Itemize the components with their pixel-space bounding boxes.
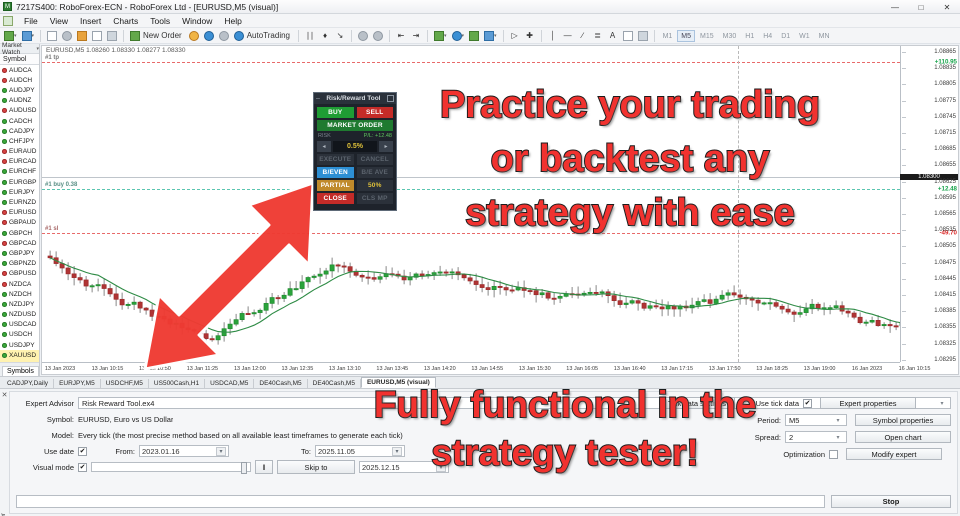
- indicators-icon[interactable]: ▾: [432, 29, 449, 43]
- slider-knob[interactable]: [241, 462, 247, 474]
- mt4-application-window: M 7217S400: RoboForex-ECN - RoboForex Lt…: [0, 0, 960, 516]
- chart-tab[interactable]: CADJPY,Daily: [2, 379, 54, 388]
- window-controls: — □ ✕: [882, 0, 960, 14]
- rrt-title: Risk/Reward Tool: [326, 95, 380, 102]
- market-watch-symbol-label: CADCH: [9, 118, 32, 125]
- arrow-up-icon: [2, 88, 7, 93]
- auto-scroll-icon[interactable]: ⇥: [409, 29, 423, 43]
- menu-item-insert[interactable]: Insert: [74, 16, 107, 26]
- arrow-up-icon: [2, 353, 7, 358]
- tester-progress-row: Stop: [16, 495, 951, 508]
- market-watch-row[interactable]: GBPCH: [0, 228, 39, 238]
- market-watch-row[interactable]: USDCH: [0, 330, 39, 340]
- time-tick-label: 13 Jan 10:50: [139, 366, 171, 372]
- market-watch-row[interactable]: USDCAD: [0, 320, 39, 330]
- arrow-up-icon: [2, 139, 7, 144]
- arrow-up-icon: [2, 200, 7, 205]
- chart-tab[interactable]: USDCAD,M5: [205, 379, 254, 388]
- market-watch-column-header[interactable]: Symbol: [0, 54, 39, 65]
- market-watch-symbol-label: AUDUSD: [9, 107, 36, 114]
- tester-panel-label: Tester: [0, 513, 8, 516]
- arrow-down-icon: [2, 282, 7, 287]
- arrow-up-icon: [2, 129, 7, 134]
- price-tick: [902, 295, 906, 296]
- market-watch-symbol-label: GBPAUD: [9, 219, 36, 226]
- rrt-close-multiple-button[interactable]: CLS MP: [357, 193, 394, 204]
- time-tick-label: 13 Jan 16:40: [614, 366, 646, 372]
- time-axis[interactable]: 13 Jan 202313 Jan 10:1513 Jan 10:5013 Ja…: [42, 362, 900, 374]
- time-tick-label: 13 Jan 14:20: [424, 366, 456, 372]
- mql-community-icon[interactable]: [217, 29, 231, 43]
- rrt-close-button[interactable]: CLOSE: [317, 193, 354, 204]
- arrow-up-icon: [2, 231, 7, 236]
- shift-end-icon[interactable]: ⇤: [394, 29, 408, 43]
- expert-advisor-label: Expert Advisor: [16, 399, 78, 408]
- menu-item-view[interactable]: View: [44, 16, 74, 26]
- chart-tab[interactable]: EURJPY,M5: [54, 379, 101, 388]
- arrow-down-icon: [2, 108, 7, 113]
- rrt-cancel-button[interactable]: CANCEL: [357, 154, 394, 165]
- expert-advisors-icon[interactable]: [202, 29, 216, 43]
- market-watch-symbol-label: USDCAD: [9, 321, 36, 328]
- price-tick-label: 1.08445: [934, 276, 956, 282]
- stop-button[interactable]: Stop: [831, 495, 951, 508]
- price-tick-label: 1.08835: [934, 65, 956, 71]
- rrt-pl-label: P/L: +12.48: [364, 133, 392, 139]
- arrow-up-icon: [2, 312, 7, 317]
- templates-icon[interactable]: [467, 29, 481, 43]
- open-chart-button[interactable]: Open chart: [855, 431, 951, 443]
- price-tick: [902, 117, 906, 118]
- market-watch-symbol-label: AUDJPY: [9, 87, 35, 94]
- price-tick: [902, 165, 906, 166]
- rrt-risk-value[interactable]: 0.5%: [333, 141, 377, 152]
- arrow-down-icon: [2, 210, 7, 215]
- text-label-icon[interactable]: [621, 29, 635, 43]
- price-tick-label: 1.08775: [934, 98, 956, 104]
- price-tick-label: 1.08535: [934, 227, 956, 233]
- data-window-icon[interactable]: [60, 29, 74, 43]
- price-tick-label: 1.08505: [934, 243, 956, 249]
- market-watch-row[interactable]: AUDUSD: [0, 106, 39, 116]
- arrow-up-icon: [2, 302, 7, 307]
- arrow-up-icon: [2, 119, 7, 124]
- market-watch-title-bar: Market Watch ▾: [0, 44, 39, 54]
- expert-properties-button[interactable]: Expert properties: [820, 397, 916, 409]
- chart-tab[interactable]: US500Cash,H1: [149, 379, 205, 388]
- from-date-picker-icon[interactable]: ▾: [216, 447, 226, 456]
- market-watch-symbol-label: AUDNZ: [9, 97, 31, 104]
- market-watch-row[interactable]: CHFJPY: [0, 136, 39, 146]
- market-watch-row[interactable]: GBPNZD: [0, 259, 39, 269]
- price-axis[interactable]: 1.08300 +110.95 +12.48 -49.70 1.088651.0…: [900, 46, 958, 362]
- price-tick: [902, 133, 906, 134]
- market-watch-row[interactable]: AUDCH: [0, 75, 39, 85]
- chart-tab[interactable]: DE40Cash,M5: [254, 379, 307, 388]
- rrt-partial-button[interactable]: PARTIAL: [317, 180, 354, 191]
- document-icon: [3, 16, 13, 26]
- use-date-label: Use date: [16, 447, 78, 456]
- bar-chart-icon[interactable]: ∣∣: [303, 29, 317, 43]
- price-tick-label: 1.08295: [934, 357, 956, 363]
- time-tick-label: 13 Jan 11:25: [187, 366, 218, 372]
- price-tick: [902, 327, 906, 328]
- market-watch-symbol-label: AUDCH: [9, 77, 32, 84]
- autotrading-label: AutoTrading: [247, 31, 290, 40]
- price-tick-label: 1.08745: [934, 114, 956, 120]
- market-watch-row[interactable]: AUDNZ: [0, 96, 39, 106]
- menu-item-tools[interactable]: Tools: [144, 16, 176, 26]
- time-tick-label: 13 Jan 12:00: [234, 366, 266, 372]
- market-watch-row[interactable]: USDJPY: [0, 340, 39, 350]
- rrt-close-icon[interactable]: [387, 95, 394, 102]
- arrow-up-icon: [2, 98, 7, 103]
- price-tick-label: 1.08805: [934, 81, 956, 87]
- market-watch-symbol-list[interactable]: AUDCAAUDCHAUDJPYAUDNZAUDUSDCADCHCADJPYCH…: [0, 65, 39, 362]
- arrow-up-icon: [2, 343, 7, 348]
- arrow-up-icon: [2, 251, 7, 256]
- rrt-sell-button[interactable]: SELL: [357, 107, 394, 118]
- market-watch-symbol-label: XAUUSD: [9, 352, 36, 359]
- market-watch-row[interactable]: GBPUSD: [0, 269, 39, 279]
- symbol-properties-button[interactable]: Symbol properties: [855, 414, 951, 426]
- price-tick-label: 1.08715: [934, 130, 956, 136]
- price-tick: [902, 214, 906, 215]
- price-tick-label: 1.08565: [934, 211, 956, 217]
- arrow-up-icon: [2, 190, 7, 195]
- time-tick-label: 13 Jan 13:45: [376, 366, 408, 372]
- price-tick: [902, 198, 906, 199]
- maximize-button[interactable]: □: [908, 0, 934, 14]
- use-date-checkbox[interactable]: ✔: [78, 447, 87, 456]
- market-watch-symbol-label: EURCAD: [9, 158, 36, 165]
- market-watch-row[interactable]: NZDUSD: [0, 310, 39, 320]
- main-toolbar: ▾ ▾ New Order AutoTrading ∣∣ ♦ ↘ ⇤ ⇥ ▾ ▾…: [0, 28, 960, 44]
- modify-expert-button[interactable]: Modify expert: [846, 448, 942, 460]
- zoom-in-icon[interactable]: [356, 29, 370, 43]
- market-watch-row[interactable]: AUDJPY: [0, 85, 39, 95]
- market-watch-row[interactable]: AUDCA: [0, 65, 39, 75]
- arrow-up-icon: [2, 180, 7, 185]
- chevron-down-icon[interactable]: ▾: [833, 415, 843, 425]
- symbol-label: Symbol:: [16, 415, 78, 424]
- symbol-value[interactable]: EURUSD, Euro vs US Dollar: [78, 415, 173, 424]
- rrt-market-order-button[interactable]: MARKET ORDER: [317, 120, 393, 131]
- arrow-down-icon: [2, 149, 7, 154]
- price-tick: [902, 52, 906, 53]
- equidistant-channel-icon[interactable]: ≣: [591, 29, 605, 43]
- price-tick: [902, 68, 906, 69]
- tab-symbols[interactable]: Symbols: [2, 366, 39, 376]
- rrt-risk-label: RISK: [318, 133, 331, 139]
- arrow-up-icon: [2, 292, 7, 297]
- market-watch-symbol-label: EURNZD: [9, 199, 36, 206]
- pause-button[interactable]: ‖: [255, 460, 273, 474]
- autotrading-button[interactable]: AutoTrading: [232, 29, 294, 43]
- model-label: Model:: [16, 431, 78, 440]
- metaeditor-icon[interactable]: [187, 29, 201, 43]
- market-watch-symbol-label: NZDCA: [9, 281, 31, 288]
- new-chart-icon[interactable]: ▾: [2, 29, 19, 43]
- price-tick: [902, 263, 906, 264]
- menu-item-window[interactable]: Window: [176, 16, 218, 26]
- risk-reward-tool-panel[interactable]: – Risk/Reward Tool BUY SELL MARKET ORDER…: [313, 92, 397, 211]
- market-watch-symbol-label: EURCHF: [9, 168, 36, 175]
- market-watch-row[interactable]: EURCHF: [0, 167, 39, 177]
- new-order-label: New Order: [143, 31, 182, 40]
- market-watch-panel: Market Watch ▾ Symbol AUDCAAUDCHAUDJPYAU…: [0, 44, 40, 376]
- market-watch-row[interactable]: GBPCAD: [0, 238, 39, 248]
- price-tick-label: 1.08355: [934, 324, 956, 330]
- entry-value-label: +12.48: [938, 186, 957, 193]
- price-tick: [902, 279, 906, 280]
- market-watch-symbol-label: GBPJPY: [9, 250, 35, 257]
- time-tick-label: 13 Jan 16:05: [566, 366, 598, 372]
- price-tick-label: 1.08865: [934, 49, 956, 55]
- market-watch-symbol-label: EURAUD: [9, 148, 36, 155]
- navigator-icon[interactable]: [75, 29, 89, 43]
- price-tick-label: 1.08655: [934, 162, 956, 168]
- from-date-field[interactable]: 2023.01.16 ▾: [139, 445, 229, 457]
- market-watch-row[interactable]: CADJPY: [0, 126, 39, 136]
- price-tick: [902, 182, 906, 183]
- market-watch-symbol-label: EURGBP: [9, 179, 36, 186]
- time-tick-label: 13 Jan 17:15: [661, 366, 693, 372]
- arrow-up-icon: [2, 332, 7, 337]
- price-tick: [902, 246, 906, 247]
- price-tick-label: 1.08385: [934, 308, 956, 314]
- market-watch-symbol-label: GBPUSD: [9, 270, 36, 277]
- time-tick-label: 13 Jan 2023: [45, 366, 75, 372]
- market-watch-symbol-label: GBPCAD: [9, 240, 36, 247]
- time-tick-label: 13 Jan 13:10: [329, 366, 361, 372]
- timeframe-d1[interactable]: D1: [777, 30, 794, 42]
- arrow-up-icon: [2, 322, 7, 327]
- price-tick-label: 1.08595: [934, 195, 956, 201]
- rrt-risk-decrease-button[interactable]: ◂: [317, 141, 331, 152]
- app-icon: M: [3, 2, 12, 11]
- rrt-risk-increase-button[interactable]: ▸: [379, 141, 393, 152]
- chart-header-ohlc: EURUSD,M5 1.08260 1.08330 1.08277 1.0833…: [46, 47, 186, 54]
- horizontal-line-icon[interactable]: —: [561, 29, 575, 43]
- terminal-icon[interactable]: [90, 29, 104, 43]
- market-watch-row[interactable]: EURUSD: [0, 208, 39, 218]
- price-tick: [902, 230, 906, 231]
- candlestick-chart-icon[interactable]: ♦: [318, 29, 332, 43]
- from-label: From:: [87, 447, 139, 456]
- market-watch-symbol-label: CHFJPY: [9, 138, 34, 145]
- timeframe-m5[interactable]: M5: [677, 30, 695, 42]
- menu-item-help[interactable]: Help: [218, 16, 247, 26]
- market-watch-symbol-label: GBPNZD: [9, 260, 36, 267]
- zoom-out-icon[interactable]: [371, 29, 385, 43]
- market-watch-row[interactable]: GBPJPY: [0, 248, 39, 258]
- line-chart-icon[interactable]: ↘: [333, 29, 347, 43]
- arrow-up-icon: [2, 261, 7, 266]
- market-watch-row[interactable]: NZDCH: [0, 289, 39, 299]
- time-tick-label: 13 Jan 19:00: [804, 366, 836, 372]
- timeframe-m15[interactable]: M15: [696, 30, 718, 42]
- visual-mode-checkbox[interactable]: ✔: [78, 463, 87, 472]
- price-tick: [902, 149, 906, 150]
- market-watch-row[interactable]: XAUUSD: [0, 350, 39, 360]
- minimize-button[interactable]: —: [882, 0, 908, 14]
- rrt-partial-percent-button[interactable]: 50%: [357, 180, 394, 191]
- from-date-value: 2023.01.16: [142, 447, 216, 456]
- price-tick: [902, 311, 906, 312]
- arrow-down-icon: [2, 68, 7, 73]
- price-tick-label: 1.08625: [934, 179, 956, 185]
- price-tick-label: 1.08415: [934, 292, 956, 298]
- title-bar: M 7217S400: RoboForex-ECN - RoboForex Lt…: [0, 0, 960, 14]
- arrow-down-icon: [2, 241, 7, 246]
- to-label: To:: [229, 447, 315, 456]
- menu-bar: File View Insert Charts Tools Window Hel…: [0, 14, 960, 28]
- timeframe-w1[interactable]: W1: [795, 30, 814, 42]
- text-icon[interactable]: A: [606, 29, 620, 43]
- grid-icon[interactable]: ▾: [482, 29, 499, 43]
- market-watch-row[interactable]: EURAUD: [0, 147, 39, 157]
- price-tick: [902, 101, 906, 102]
- optimization-checkbox[interactable]: [829, 450, 838, 459]
- market-watch-close-icon[interactable]: ▾: [36, 46, 39, 52]
- arrow-up-icon: [2, 169, 7, 174]
- arrow-down-icon: [2, 220, 7, 225]
- rrt-risk-stepper[interactable]: ◂ 0.5% ▸: [317, 141, 393, 152]
- overlay-headline-1: Practice your trading: [400, 86, 860, 125]
- timeframe-m30[interactable]: M30: [719, 30, 741, 42]
- market-watch-symbol-label: NZDUSD: [9, 311, 36, 318]
- market-watch-row[interactable]: EURCAD: [0, 157, 39, 167]
- price-tick: [902, 84, 906, 85]
- price-tick-label: 1.08685: [934, 146, 956, 152]
- timeframe-m1[interactable]: M1: [659, 30, 677, 42]
- visual-mode-label: Visual mode: [16, 463, 78, 472]
- market-watch-symbol-label: NZDJPY: [9, 301, 34, 308]
- price-tick: [902, 360, 906, 361]
- arrow-down-icon: [2, 78, 7, 83]
- market-watch-symbol-label: EURJPY: [9, 189, 35, 196]
- time-tick-label: 13 Jan 14:55: [471, 366, 503, 372]
- crosshair-icon[interactable]: ✚: [523, 29, 537, 43]
- time-tick-label: 13 Jan 17:50: [709, 366, 741, 372]
- arrow-down-icon: [2, 271, 7, 276]
- window-title: 7217S400: RoboForex-ECN - RoboForex Ltd …: [16, 2, 278, 12]
- market-watch-row[interactable]: NZDCA: [0, 279, 39, 289]
- menu-item-file[interactable]: File: [18, 16, 44, 26]
- price-tick-label: 1.08325: [934, 341, 956, 347]
- market-watch-row[interactable]: EURJPY: [0, 187, 39, 197]
- market-watch-symbol-label: USDCH: [9, 331, 32, 338]
- time-tick-label: 13 Jan 12:35: [281, 366, 313, 372]
- visual-speed-slider[interactable]: [91, 462, 251, 472]
- market-watch-symbol-label: CADJPY: [9, 128, 35, 135]
- price-tick-label: 1.08475: [934, 260, 956, 266]
- market-watch-row[interactable]: EURGBP: [0, 177, 39, 187]
- market-watch-symbol-label: USDJPY: [9, 342, 35, 349]
- trendline-icon[interactable]: ∕: [576, 29, 590, 43]
- market-watch-symbol-label: NZDCH: [9, 291, 32, 298]
- chart-tab[interactable]: USDCHF,M5: [101, 379, 149, 388]
- chevron-down-icon[interactable]: ▾: [833, 432, 843, 442]
- time-tick-label: 13 Jan 15:30: [519, 366, 551, 372]
- time-tick-label: 13 Jan 10:15: [92, 366, 124, 372]
- tester-close-icon[interactable]: ✕: [0, 389, 9, 516]
- menu-item-charts[interactable]: Charts: [107, 16, 144, 26]
- market-watch-row[interactable]: NZDJPY: [0, 299, 39, 309]
- use-tick-data-checkbox[interactable]: ✔: [803, 399, 812, 408]
- vertical-line-icon[interactable]: │: [546, 29, 560, 43]
- strategy-tester-icon[interactable]: [105, 29, 119, 43]
- close-button[interactable]: ✕: [934, 0, 960, 14]
- progress-bar: [16, 495, 825, 508]
- market-watch-symbol-label: GBPCH: [9, 230, 32, 237]
- overlay-subhead-1: Fully functional in the: [330, 386, 800, 424]
- market-watch-icon[interactable]: [45, 29, 59, 43]
- time-tick-label: 16 Jan 10:15: [899, 366, 931, 372]
- rrt-buy-button[interactable]: BUY: [317, 107, 354, 118]
- rrt-breakeven-average-button[interactable]: B/E AVE: [357, 167, 394, 178]
- rrt-execute-button[interactable]: EXECUTE: [317, 154, 354, 165]
- periodicity-icon[interactable]: ▾: [450, 29, 467, 43]
- new-order-button[interactable]: New Order: [128, 29, 186, 43]
- price-tick: [902, 344, 906, 345]
- cursor-icon[interactable]: ▷: [508, 29, 522, 43]
- overlay-headline-3: strategy with ease: [400, 194, 860, 233]
- rrt-breakeven-button[interactable]: B/EVEN: [317, 167, 354, 178]
- market-watch-row[interactable]: GBPAUD: [0, 218, 39, 228]
- shapes-icon[interactable]: [636, 29, 650, 43]
- time-tick-label: 13 Jan 18:25: [756, 366, 788, 372]
- arrow-down-icon: [2, 159, 7, 164]
- timeframe-h1[interactable]: H1: [741, 30, 758, 42]
- market-watch-symbol-label: AUDCA: [9, 67, 32, 74]
- profiles-icon[interactable]: ▾: [20, 29, 37, 43]
- rrt-title-bar[interactable]: – Risk/Reward Tool: [314, 93, 396, 104]
- market-watch-footer: Symbols: [0, 362, 39, 376]
- market-watch-row[interactable]: EURNZD: [0, 197, 39, 207]
- overlay-headline-2: or backtest any: [400, 140, 860, 179]
- rrt-body: BUY SELL MARKET ORDER RISK P/L: +12.48 ◂…: [314, 104, 396, 207]
- timeframe-mn[interactable]: MN: [815, 30, 834, 42]
- time-tick-label: 16 Jan 2023: [852, 366, 882, 372]
- rrt-minimize-icon[interactable]: –: [316, 95, 320, 102]
- overlay-subhead-2: strategy tester!: [330, 434, 800, 472]
- market-watch-row[interactable]: CADCH: [0, 116, 39, 126]
- timeframe-h4[interactable]: H4: [759, 30, 776, 42]
- market-watch-symbol-label: EURUSD: [9, 209, 36, 216]
